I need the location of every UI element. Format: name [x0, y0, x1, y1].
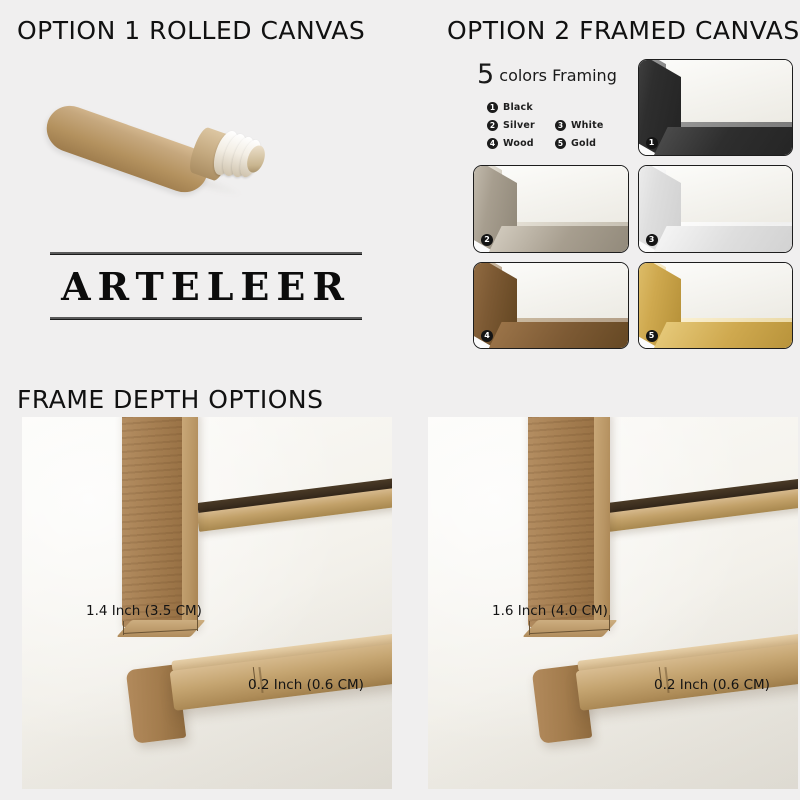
legend-row: 4 Wood 5 Gold [487, 138, 629, 149]
swatch-number-3: 3 [646, 234, 658, 246]
legend-bullet-4: 4 [487, 138, 498, 149]
swatch-number-1: 1 [646, 137, 658, 149]
frame-depth-label-right: 1.6 Inch (4.0 CM) [492, 603, 608, 619]
frame-corner-art [639, 263, 793, 349]
logo-rule-bottom [50, 317, 362, 320]
legend-item-black: 1 Black [487, 102, 555, 113]
legend-item-gold: 5 Gold [555, 138, 623, 149]
wall-background [22, 417, 392, 789]
brand-name: ARTELEER [50, 255, 362, 317]
legend-bullet-2: 2 [487, 120, 498, 131]
brand-logo: ARTELEER [50, 252, 362, 320]
frame-swatch-white[interactable]: 3 [638, 165, 794, 253]
depth-photo-1-6-inch: 1.6 Inch (4.0 CM) 0.2 Inch (0.6 CM) [428, 417, 798, 789]
framing-colors-grid: 5 colors Framing 1 Black 2 Silver 3 [473, 59, 793, 349]
swatch-number-4: 4 [481, 330, 493, 342]
legend-bullet-1: 1 [487, 102, 498, 113]
framing-color-count: 5 [477, 59, 494, 90]
framing-legend: 5 colors Framing 1 Black 2 Silver 3 [473, 59, 629, 156]
framing-legend-list: 1 Black 2 Silver 3 White 4 [477, 102, 629, 149]
frame-stile-side [182, 417, 198, 623]
frame-swatch-gold[interactable]: 5 [638, 262, 794, 350]
frame-rail [483, 322, 629, 349]
swatch-number-5: 5 [646, 330, 658, 342]
tube-body [40, 99, 214, 198]
legend-item-wood: 4 Wood [487, 138, 555, 149]
product-infographic: OPTION 1 ROLLED CANVAS ARTELEER OPTION 2… [0, 0, 800, 800]
legend-label-gold: Gold [571, 138, 596, 149]
rail-depth-label-left: 0.2 Inch (0.6 CM) [248, 677, 364, 693]
frame-depth-label-left: 1.4 Inch (3.5 CM) [86, 603, 202, 619]
frame-depth-heading: FRAME DEPTH OPTIONS [17, 385, 323, 414]
frame-rail [646, 127, 793, 157]
frame-rail [647, 322, 793, 349]
legend-bullet-5: 5 [555, 138, 566, 149]
legend-label-white: White [571, 120, 603, 131]
swatch-number-2: 2 [481, 234, 493, 246]
depth-photo-1-4-inch: 1.4 Inch (3.5 CM) 0.2 Inch (0.6 CM) [22, 417, 392, 789]
frame-rail [647, 226, 793, 253]
frame-swatch-black[interactable]: 1 [638, 59, 794, 156]
frame-swatch-silver[interactable]: 2 [473, 165, 629, 253]
option1-heading: OPTION 1 ROLLED CANVAS [17, 16, 365, 45]
framing-legend-title: 5 colors Framing [477, 61, 629, 88]
frame-corner-art [474, 263, 628, 349]
legend-label-wood: Wood [503, 138, 534, 149]
frame-corner-art [639, 166, 793, 252]
frame-swatch-wood[interactable]: 4 [473, 262, 629, 350]
legend-row: 1 Black [487, 102, 629, 113]
legend-bullet-3: 3 [555, 120, 566, 131]
wall-background [428, 417, 798, 789]
legend-row: 2 Silver 3 White [487, 120, 629, 131]
legend-item-white: 3 White [555, 120, 623, 131]
rolled-canvas-tube-icon [44, 72, 264, 187]
legend-label-black: Black [503, 102, 533, 113]
frame-corner-art [474, 166, 628, 252]
option2-heading: OPTION 2 FRAMED CANVAS [447, 16, 800, 45]
rail-depth-label-right: 0.2 Inch (0.6 CM) [654, 677, 770, 693]
legend-label-silver: Silver [503, 120, 535, 131]
frame-corner-art [639, 60, 793, 155]
frame-stile-side [594, 417, 610, 623]
frame-rail [483, 226, 629, 253]
legend-item-silver: 2 Silver [487, 120, 555, 131]
framing-legend-text: colors Framing [494, 66, 617, 85]
